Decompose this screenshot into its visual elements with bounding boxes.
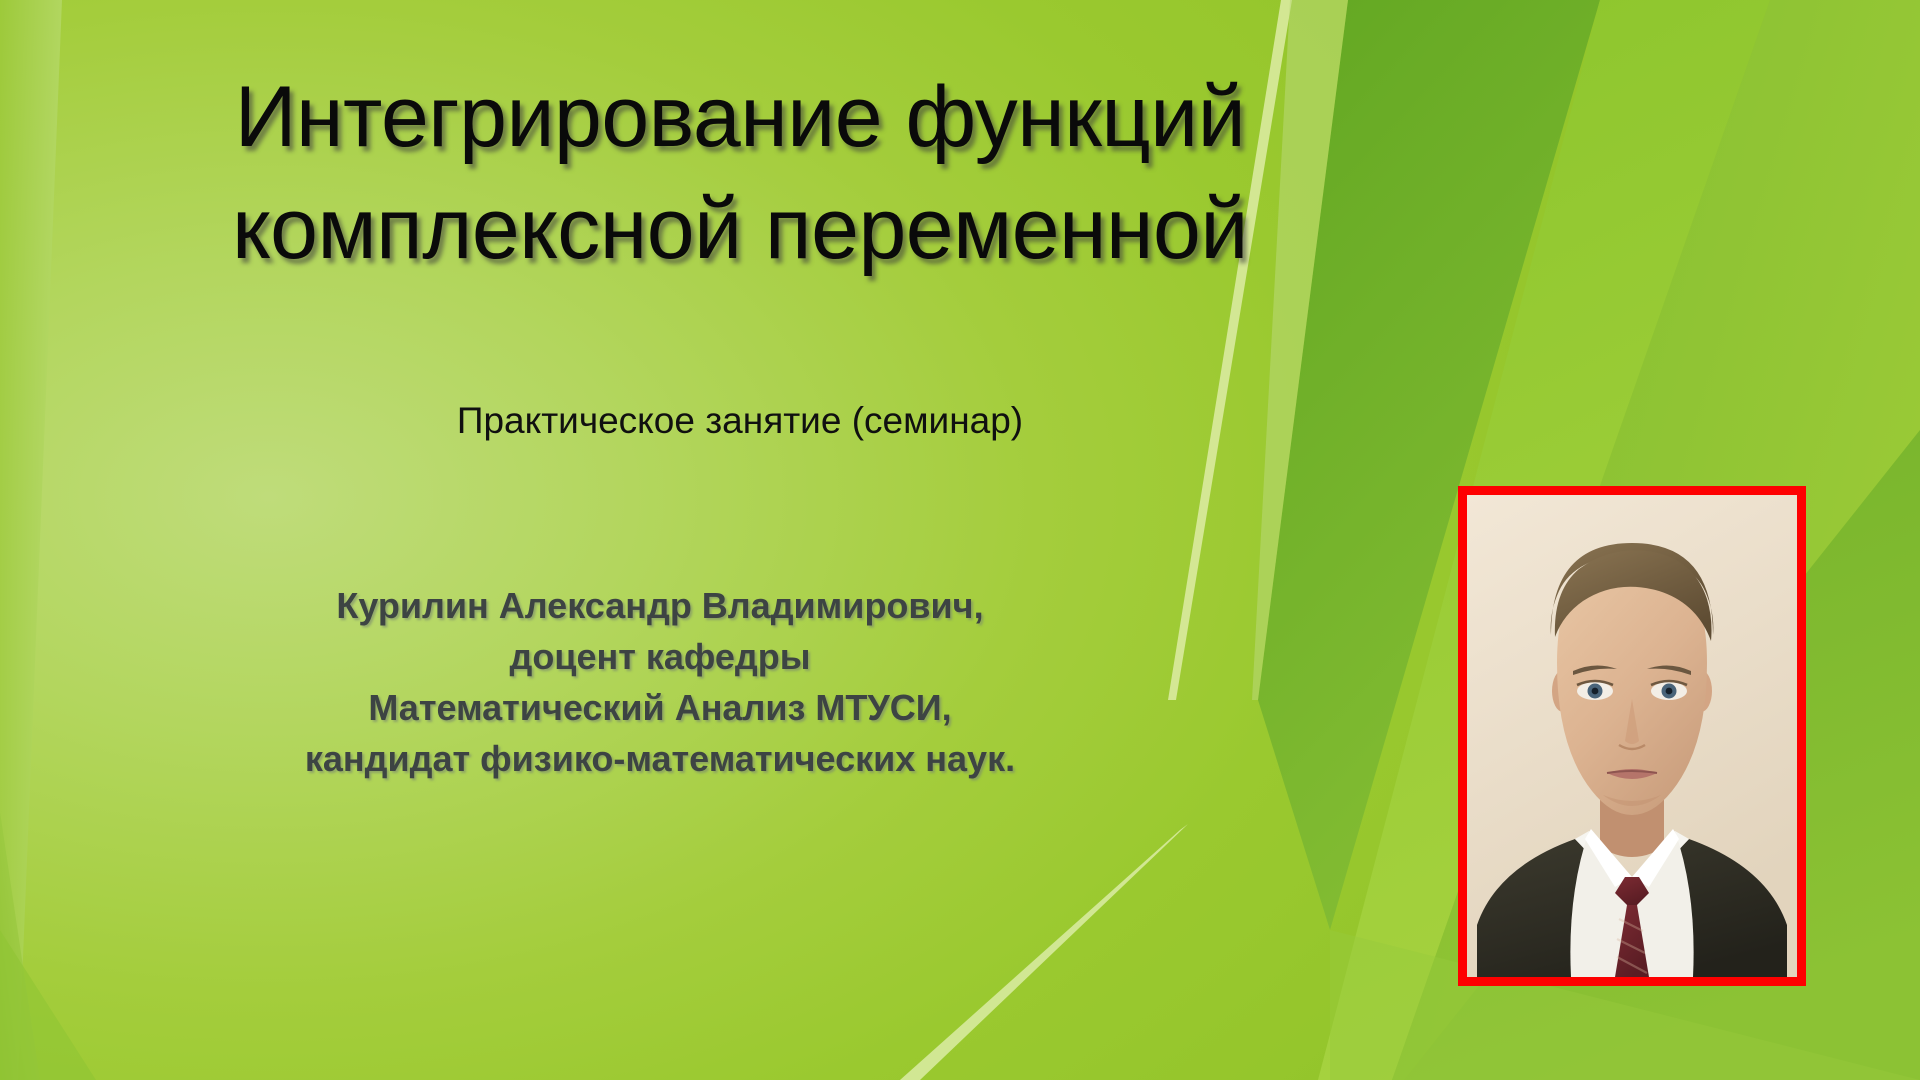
author-block: Курилин Александр Владимирович, доцент к… bbox=[150, 580, 1170, 784]
author-name: Курилин Александр Владимирович, bbox=[150, 580, 1170, 631]
author-degree: кандидат физико-математических наук. bbox=[150, 733, 1170, 784]
background-wedge-left-3 bbox=[0, 930, 96, 1080]
background-ray-thin-lower bbox=[900, 824, 1188, 1080]
speaker-photo-frame bbox=[1458, 486, 1806, 986]
slide-subtitle: Практическое занятие (семинар) bbox=[160, 400, 1320, 442]
slide-title: Интегрирование функций комплексной перем… bbox=[160, 62, 1320, 286]
title-line-2: комплексной переменной bbox=[160, 174, 1320, 286]
author-position: доцент кафедры bbox=[150, 631, 1170, 682]
presentation-slide: Интегрирование функций комплексной перем… bbox=[0, 0, 1920, 1080]
speaker-portrait-photo bbox=[1467, 495, 1797, 977]
title-line-1: Интегрирование функций bbox=[160, 62, 1320, 174]
author-department: Математический Анализ МТУСИ, bbox=[150, 682, 1170, 733]
